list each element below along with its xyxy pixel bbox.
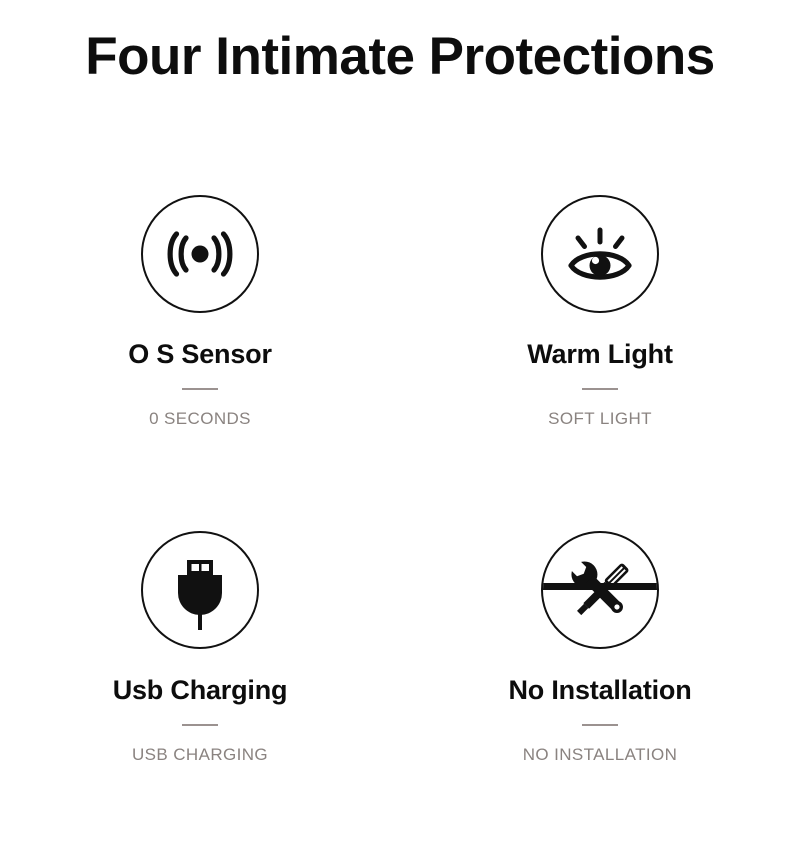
feature-divider xyxy=(582,388,618,390)
feature-divider xyxy=(582,724,618,726)
motion-sensor-icon xyxy=(155,209,245,299)
icon-circle-sensor xyxy=(141,195,259,313)
icon-circle-no-installation xyxy=(541,531,659,649)
feature-divider xyxy=(182,724,218,726)
eye-icon xyxy=(558,212,642,296)
feature-card-sensor: O S Sensor 0 SECONDS xyxy=(0,170,400,506)
feature-card-warm-light: Warm Light SOFT LIGHT xyxy=(400,170,800,506)
no-tools-icon xyxy=(543,533,657,647)
icon-circle-warm-light xyxy=(541,195,659,313)
feature-subtitle: NO INSTALLATION xyxy=(523,745,678,765)
feature-subtitle: SOFT LIGHT xyxy=(548,409,652,429)
feature-title: O S Sensor xyxy=(128,340,272,370)
infographic-page: Four Intimate Protections O S Sensor 0 S… xyxy=(0,0,800,800)
feature-card-no-installation: No Installation NO INSTALLATION xyxy=(400,506,800,842)
feature-title: Usb Charging xyxy=(113,676,288,706)
icon-circle-usb-charging xyxy=(141,531,259,649)
feature-divider xyxy=(182,388,218,390)
feature-title: Warm Light xyxy=(527,340,673,370)
feature-card-usb-charging: Usb Charging USB CHARGING xyxy=(0,506,400,842)
feature-subtitle: USB CHARGING xyxy=(132,745,268,765)
feature-title: No Installation xyxy=(508,676,691,706)
page-title: Four Intimate Protections xyxy=(0,27,800,88)
usb-plug-icon xyxy=(158,548,242,632)
feature-grid: O S Sensor 0 SECONDS xyxy=(0,170,800,842)
feature-subtitle: 0 SECONDS xyxy=(149,409,251,429)
